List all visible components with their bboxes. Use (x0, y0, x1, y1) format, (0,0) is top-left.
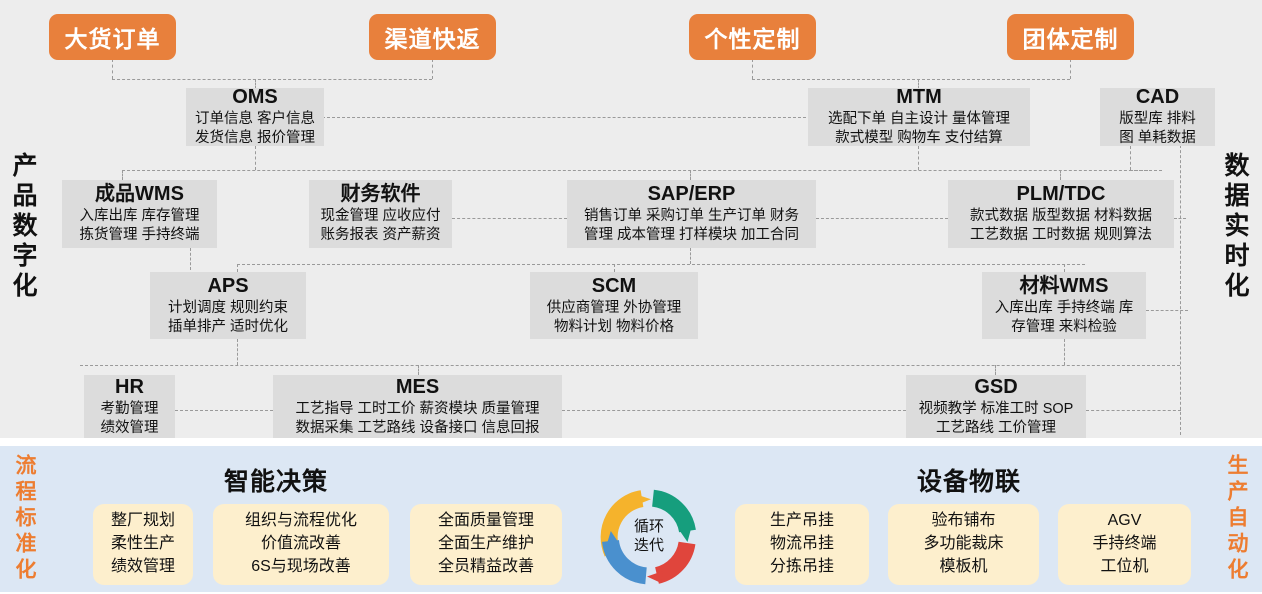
module-cad-title: CAD (1136, 86, 1179, 109)
module-finance-software-desc: 现金管理 应收应付 账务报表 资产薪资 (320, 207, 440, 244)
module-finished-goods-wms[interactable]: 成品WMS 入库出库 库存管理 拣货管理 手持终端 (62, 180, 217, 248)
module-sap-erp-title: SAP/ERP (648, 183, 736, 206)
connector-sap-plm (816, 218, 948, 219)
module-finished-goods-wms-desc: 入库出库 库存管理 拣货管理 手持终端 (79, 207, 199, 244)
card-agv[interactable]: AGV 手持终端 工位机 (1058, 504, 1191, 585)
connector-pill-bar-right (752, 79, 1070, 80)
connector-bus-to-matwms (1064, 264, 1065, 272)
connector-fin-sap (452, 218, 567, 219)
cycle-ring-diagram: 循环 迭代 (595, 485, 703, 589)
module-hr-desc: 考勤管理 绩效管理 (101, 400, 159, 437)
diagram-canvas: 产品数字化 数据实时化 (0, 0, 1262, 592)
connector-gsd-right (1086, 410, 1181, 411)
connector-matwms-down (1064, 339, 1065, 365)
module-scm[interactable]: SCM 供应商管理 外协管理 物料计划 物料价格 (530, 272, 698, 339)
module-mes-desc: 工艺指导 工时工价 薪资模块 质量管理 数据采集 工艺路线 设备接口 信息回报 (295, 400, 539, 437)
connector-cad-down (1130, 146, 1131, 170)
module-cad[interactable]: CAD 版型库 排料 图 单耗数据 (1100, 88, 1215, 146)
card-production-hanging[interactable]: 生产吊挂 物流吊挂 分拣吊挂 (735, 504, 869, 585)
ring-center-label: 循环 迭代 (595, 485, 703, 589)
module-gsd-title: GSD (974, 376, 1017, 399)
connector-bus-to-gsd (995, 365, 996, 375)
module-scm-desc: 供应商管理 外协管理 物料计划 物料价格 (547, 299, 682, 336)
module-aps-desc: 计划调度 规则约束 插单排产 适时优化 (168, 299, 288, 336)
connector-bus-to-mes (418, 365, 419, 375)
module-mtm-desc: 选配下单 自主设计 量体管理 款式模型 购物车 支付结算 (828, 110, 1010, 147)
module-mtm[interactable]: MTM 选配下单 自主设计 量体管理 款式模型 购物车 支付结算 (808, 88, 1030, 146)
connector-sap-down (690, 248, 691, 264)
pill-group-customization[interactable]: 团体定制 (1007, 14, 1134, 60)
module-material-wms[interactable]: 材料WMS 入库出库 手持终端 库 存管理 来料检验 (982, 272, 1146, 339)
module-material-wms-title: 材料WMS (1020, 275, 1109, 298)
connector-bus-to-wms (122, 170, 123, 180)
connector-row3-bus (237, 264, 1085, 265)
connector-wms-aps (190, 248, 191, 270)
connector-bus-to-scm (614, 264, 615, 272)
module-aps[interactable]: APS 计划调度 规则约束 插单排产 适时优化 (150, 272, 306, 339)
module-sap-erp[interactable]: SAP/ERP 销售订单 采购订单 生产订单 财务 管理 成本管理 打样模块 加… (567, 180, 816, 248)
module-gsd[interactable]: GSD 视频教学 标准工时 SOP 工艺路线 工价管理 (906, 375, 1086, 438)
connector-pill2-down (432, 59, 433, 79)
connector-pill1-down (112, 59, 113, 79)
side-label-production-automation: 生产自动化 (1226, 454, 1247, 584)
module-hr[interactable]: HR 考勤管理 绩效管理 (84, 375, 175, 438)
module-material-wms-desc: 入库出库 手持终端 库 存管理 来料检验 (995, 299, 1134, 336)
connector-hr-mes (175, 410, 273, 411)
connector-bus-to-plm (1060, 170, 1061, 180)
side-label-data-realtime: 数据实时化 (1222, 152, 1247, 302)
side-label-product-digitalization: 产品数字化 (10, 152, 35, 302)
module-oms[interactable]: OMS 订单信息 客户信息 发货信息 报价管理 (186, 88, 324, 146)
product-digitalization-panel: 产品数字化 数据实时化 (0, 0, 1262, 440)
module-gsd-desc: 视频教学 标准工时 SOP 工艺路线 工价管理 (919, 400, 1074, 437)
module-finance-software[interactable]: 财务软件 现金管理 应收应付 账务报表 资产薪资 (309, 180, 452, 248)
section-title-intelligent-decision: 智能决策 (224, 462, 328, 498)
connector-row4-bus (80, 365, 1180, 366)
module-finance-software-title: 财务软件 (341, 183, 421, 206)
connector-oms-down (255, 146, 256, 170)
card-plant-planning[interactable]: 整厂规划 柔性生产 绩效管理 (93, 504, 193, 585)
module-oms-title: OMS (232, 86, 278, 109)
connector-matwms-right (1146, 310, 1188, 311)
module-plm-tdc[interactable]: PLM/TDC 款式数据 版型数据 材料数据 工艺数据 工时数据 规则算法 (948, 180, 1174, 248)
pill-channel-quick-return[interactable]: 渠道快返 (369, 14, 496, 60)
connector-oms-mtm (322, 117, 816, 118)
connector-row2-bus (122, 170, 1162, 171)
section-title-equipment-iot: 设备物联 (917, 462, 1021, 498)
module-aps-title: APS (207, 275, 248, 298)
connector-mes-gsd (562, 410, 906, 411)
module-sap-erp-desc: 销售订单 采购订单 生产订单 财务 管理 成本管理 打样模块 加工合同 (584, 207, 799, 244)
connector-pill4-down (1070, 59, 1071, 79)
connector-bus-to-aps (237, 264, 238, 272)
side-label-process-standardization: 流程标准化 (14, 454, 35, 584)
card-process-optimization[interactable]: 组织与流程优化 价值流改善 6S与现场改善 (213, 504, 389, 585)
module-plm-tdc-title: PLM/TDC (1017, 183, 1106, 206)
card-fabric-inspection[interactable]: 验布铺布 多功能裁床 模板机 (888, 504, 1039, 585)
connector-pill-bar-left (112, 79, 432, 80)
connector-cad-bus (1130, 170, 1148, 171)
module-finished-goods-wms-title: 成品WMS (95, 183, 184, 206)
module-plm-tdc-desc: 款式数据 版型数据 材料数据 工艺数据 工时数据 规则算法 (970, 207, 1152, 244)
module-mtm-title: MTM (896, 86, 942, 109)
module-cad-desc: 版型库 排料 图 单耗数据 (1119, 110, 1196, 147)
connector-pill3-down (752, 59, 753, 79)
connector-aps-down (237, 339, 238, 365)
card-quality-management[interactable]: 全面质量管理 全面生产维护 全员精益改善 (410, 504, 562, 585)
module-hr-title: HR (115, 376, 144, 399)
connector-bus-to-sap (690, 170, 691, 180)
connector-plm-right (1174, 218, 1186, 219)
module-scm-title: SCM (592, 275, 636, 298)
pill-bulk-order[interactable]: 大货订单 (49, 14, 176, 60)
connector-mtm-down (918, 146, 919, 170)
module-mes-title: MES (396, 376, 439, 399)
pill-personal-customization[interactable]: 个性定制 (689, 14, 816, 60)
module-oms-desc: 订单信息 客户信息 发货信息 报价管理 (195, 110, 315, 147)
module-mes[interactable]: MES 工艺指导 工时工价 薪资模块 质量管理 数据采集 工艺路线 设备接口 信… (273, 375, 562, 438)
connector-right-spine (1180, 140, 1181, 435)
